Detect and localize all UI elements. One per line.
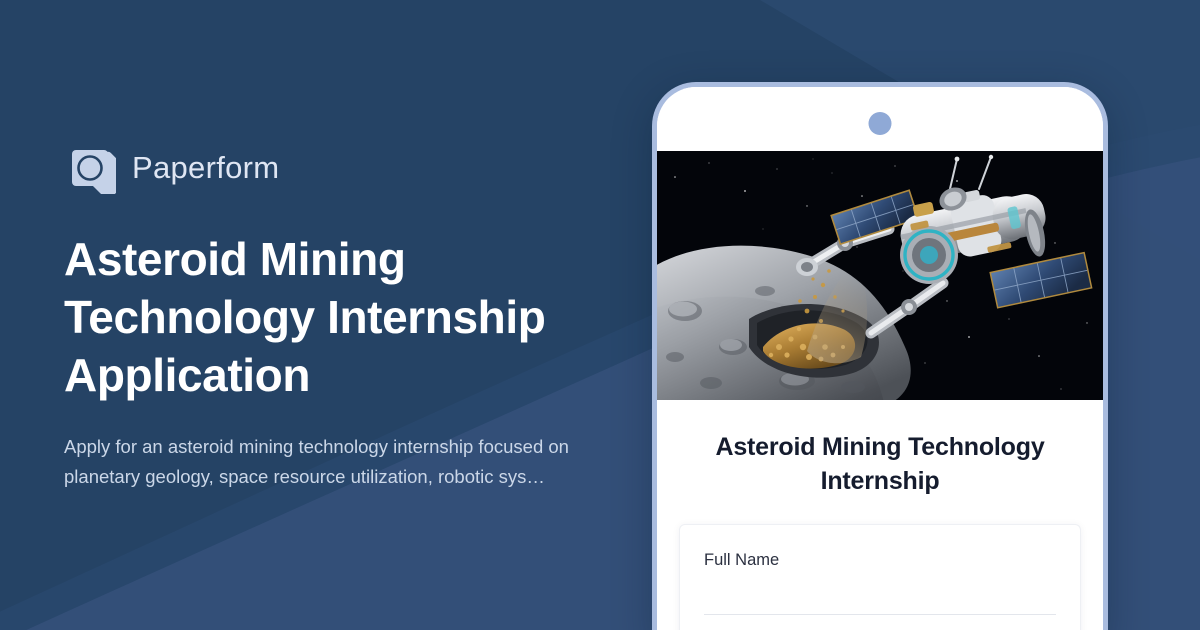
form-field-card: Full Name bbox=[679, 524, 1081, 630]
paperform-star-logo-icon bbox=[64, 142, 116, 194]
brand-name: Paperform bbox=[132, 150, 279, 186]
camera-dot-icon bbox=[869, 112, 892, 135]
form-cover-image bbox=[657, 151, 1103, 400]
phone-mockup: Asteroid Mining Technology Internship Fu… bbox=[652, 82, 1108, 630]
form-title: Asteroid Mining Technology Internship bbox=[679, 430, 1081, 498]
page-title: Asteroid Mining Technology Internship Ap… bbox=[64, 230, 609, 404]
phone-top-bar bbox=[657, 87, 1103, 151]
left-content-column: Paperform Asteroid Mining Technology Int… bbox=[64, 140, 624, 492]
promo-banner: Paperform Asteroid Mining Technology Int… bbox=[0, 0, 1200, 630]
full-name-input[interactable] bbox=[704, 614, 1056, 615]
page-description: Apply for an asteroid mining technology … bbox=[64, 432, 579, 492]
form-preview: Asteroid Mining Technology Internship Fu… bbox=[657, 400, 1103, 630]
full-name-label: Full Name bbox=[704, 549, 1056, 571]
brand-lockup: Paperform bbox=[64, 140, 624, 196]
